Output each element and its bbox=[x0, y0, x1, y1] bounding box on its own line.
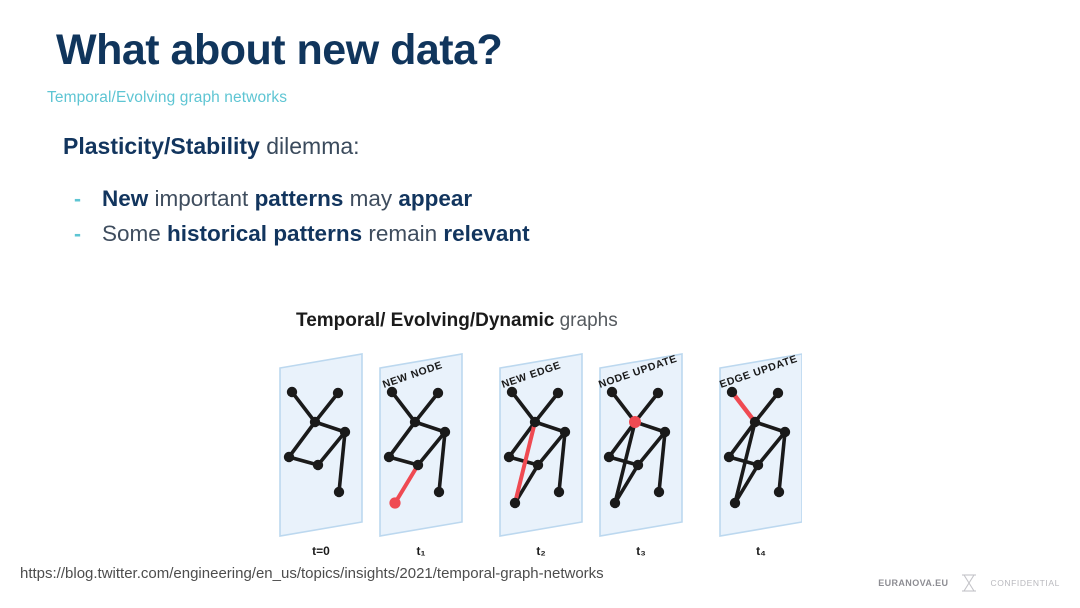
bullet-list: - New important patterns may appear - So… bbox=[74, 186, 834, 256]
bullet-dash-icon: - bbox=[74, 224, 102, 245]
figure-caption: Temporal/ Evolving/Dynamic graphs bbox=[296, 310, 618, 332]
panel-t4: EDGE UPDATE t₄ bbox=[718, 353, 802, 558]
source-url-link[interactable]: https://blog.twitter.com/engineering/en_… bbox=[20, 565, 604, 582]
page-title: What about new data? bbox=[56, 26, 502, 75]
temporal-graph-diagram: t=0 bbox=[262, 340, 802, 570]
time-label-t1: t₁ bbox=[417, 544, 426, 558]
brand-name-label: EURANOVA.EU bbox=[878, 578, 948, 588]
panel-t0: t=0 bbox=[280, 354, 362, 558]
page-subtitle: Temporal/Evolving graph networks bbox=[47, 89, 287, 107]
footer-brand: EURANOVA.EU CONFIDENTIAL bbox=[878, 573, 1060, 593]
time-label-t0: t=0 bbox=[312, 544, 330, 558]
list-item: - Some historical patterns remain releva… bbox=[74, 221, 834, 247]
panel-t1: NEW NODE t₁ bbox=[380, 354, 462, 558]
diagram-canvas: t=0 bbox=[262, 340, 802, 570]
lead-statement-rest: dilemma: bbox=[260, 133, 360, 159]
time-label-t3: t₃ bbox=[636, 544, 646, 558]
new-node-marker bbox=[389, 497, 400, 508]
bullet-dash-icon: - bbox=[74, 189, 102, 210]
panel-plane bbox=[280, 354, 362, 536]
time-label-t2: t₂ bbox=[536, 544, 545, 558]
lead-statement-bold: Plasticity/Stability bbox=[63, 133, 260, 159]
updated-node-marker bbox=[629, 416, 641, 428]
panel-t2: NEW EDGE t₂ bbox=[500, 354, 582, 558]
figure-caption-bold: Temporal/ Evolving/Dynamic bbox=[296, 310, 554, 331]
lead-statement: Plasticity/Stability dilemma: bbox=[63, 133, 360, 160]
slide-root: What about new data? Temporal/Evolving g… bbox=[0, 0, 1080, 608]
figure-caption-rest: graphs bbox=[554, 310, 617, 331]
time-label-t4: t₄ bbox=[756, 544, 766, 558]
bullet-text-1: Some historical patterns remain relevant bbox=[102, 221, 530, 247]
panel-t3: NODE UPDATE t₃ bbox=[597, 353, 682, 558]
bullet-text-0: New important patterns may appear bbox=[102, 186, 472, 212]
list-item: - New important patterns may appear bbox=[74, 186, 834, 212]
confidential-label: CONFIDENTIAL bbox=[990, 578, 1060, 588]
hourglass-icon bbox=[960, 573, 978, 593]
